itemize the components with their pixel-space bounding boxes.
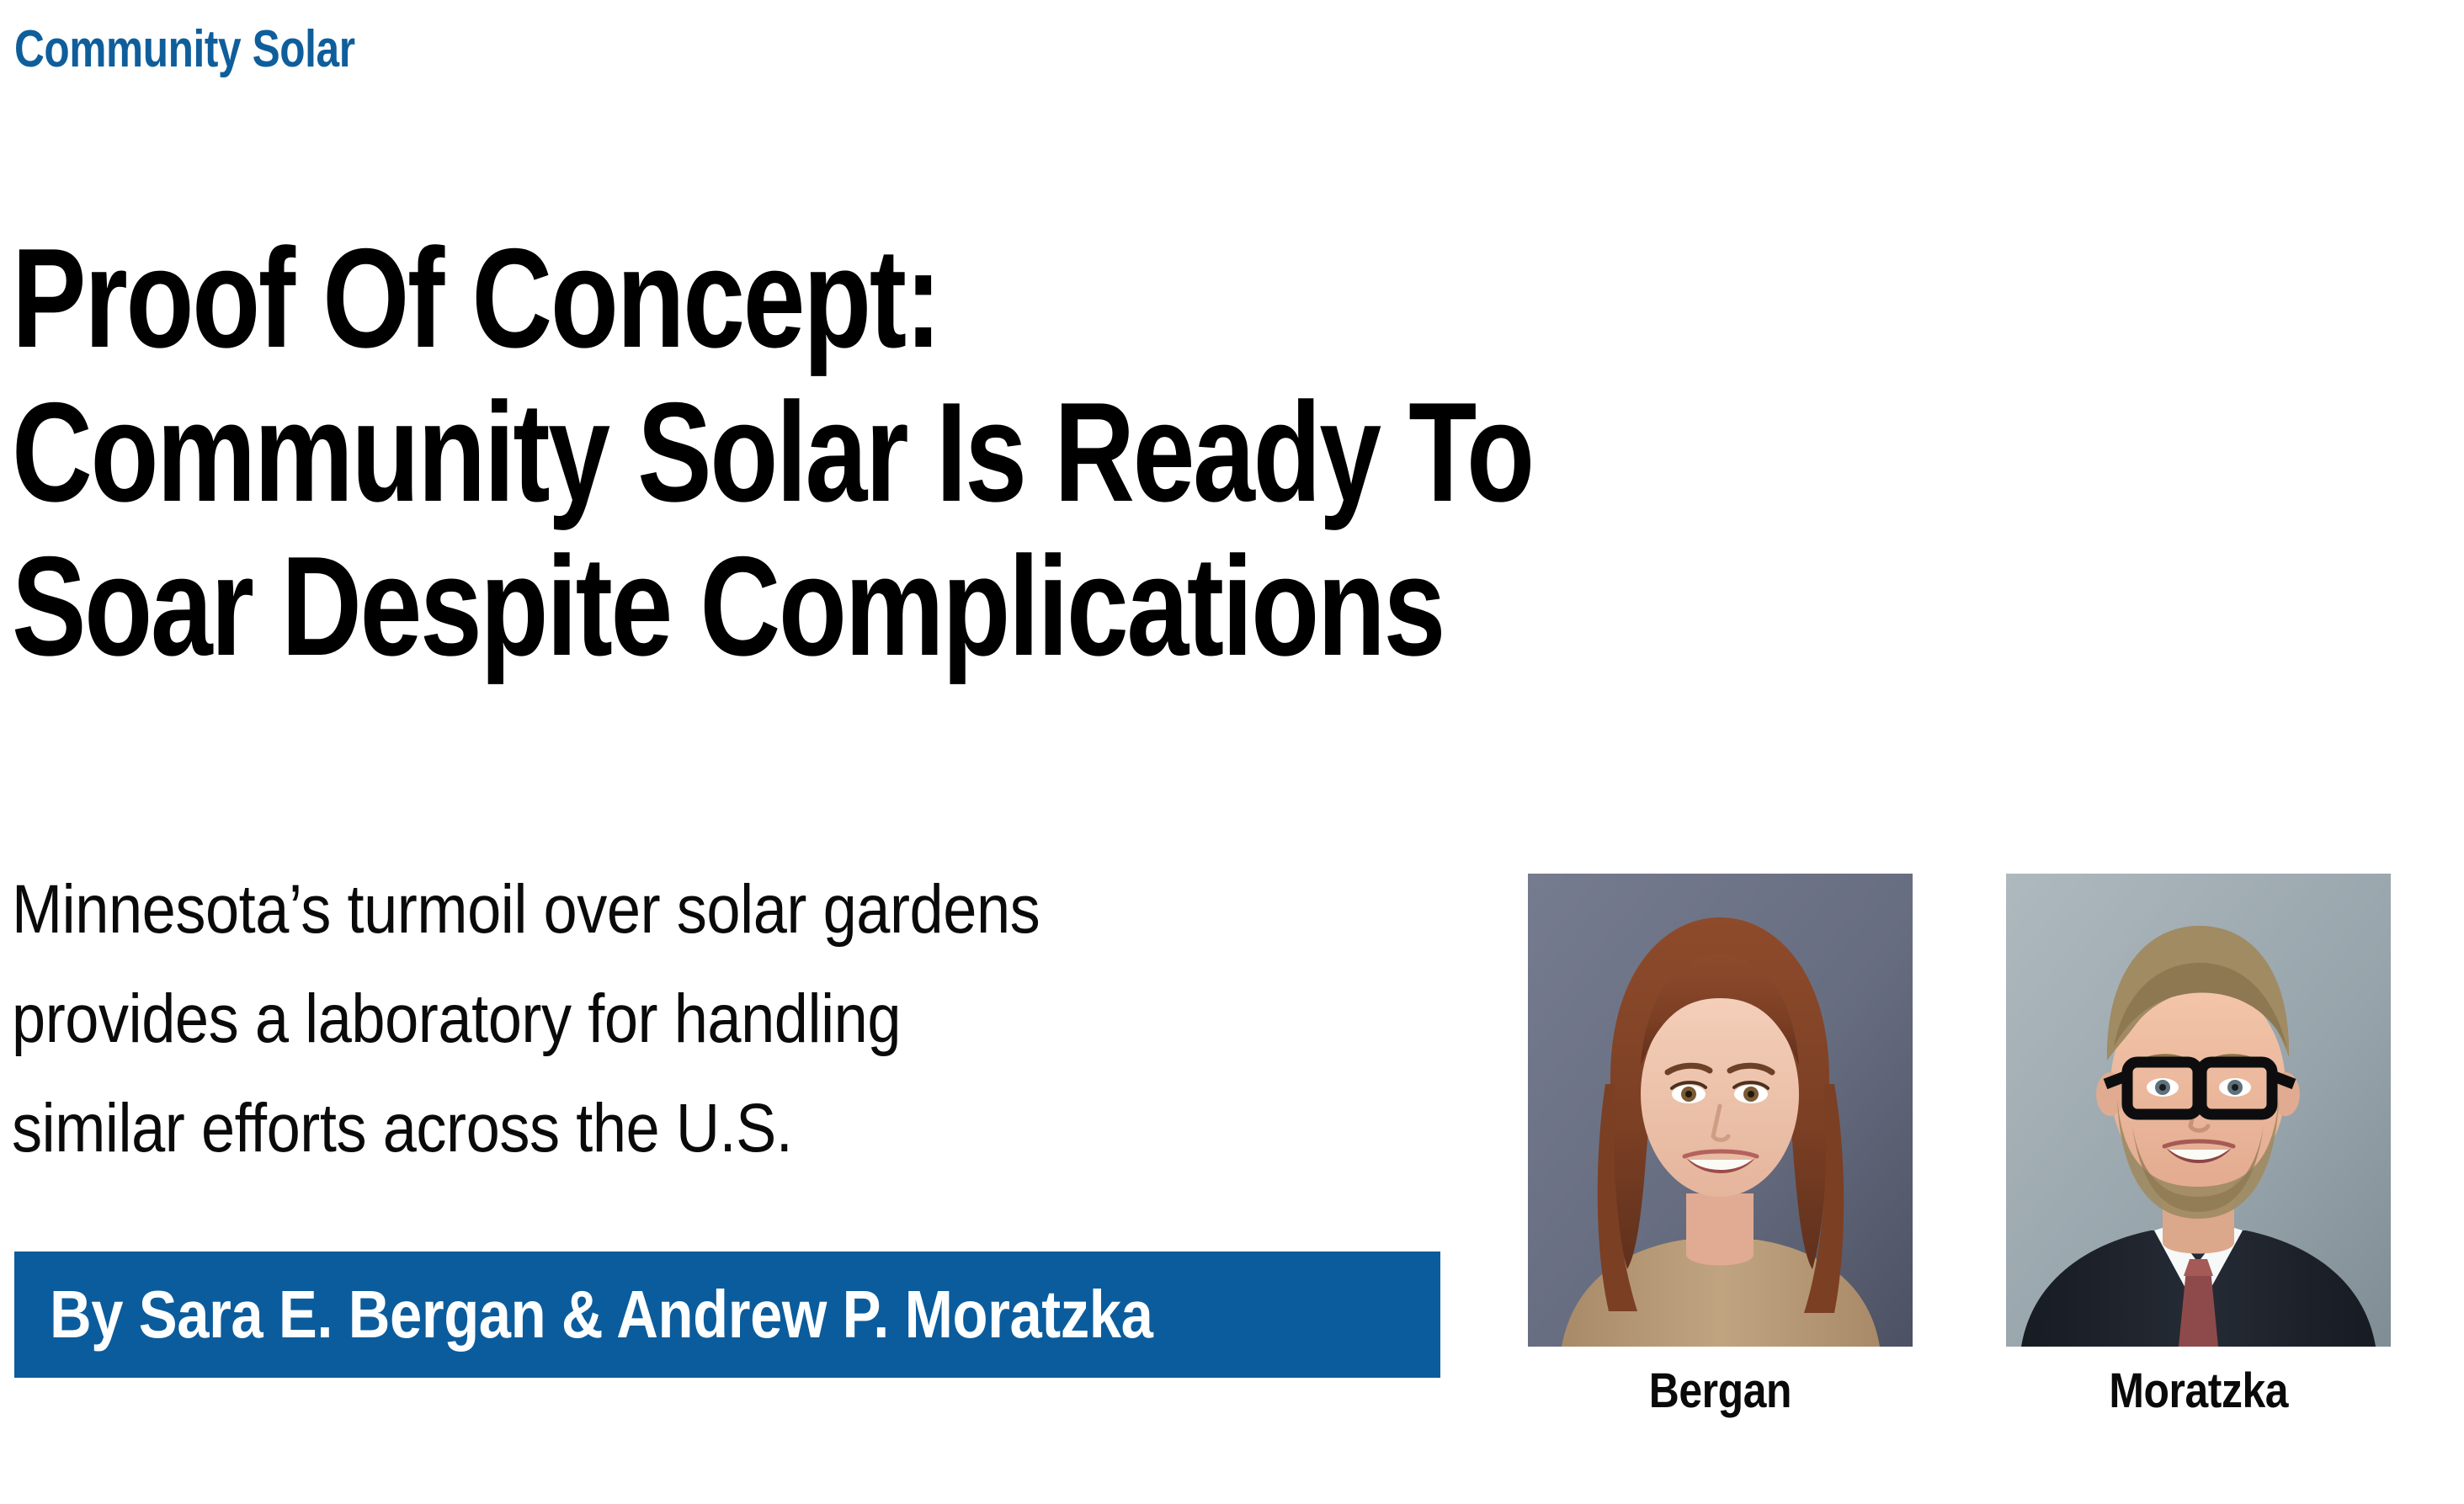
page-title: Proof Of Concept: Community Solar Is Rea… (12, 236, 1510, 668)
author-caption-bergan: Bergan (1649, 1367, 1791, 1416)
portrait-illustration (1528, 874, 1913, 1347)
deck-line-2: provides a laboratory for handling (12, 985, 1338, 1054)
author-card-bergan: Bergan (1528, 874, 1913, 1416)
article-deck: Minnesota’s turmoil over solar gardens p… (12, 875, 1519, 1163)
headline-line-2: Community Solar Is Ready To (12, 390, 1195, 514)
article-header-block: Community Solar Proof Of Concept: Commun… (0, 0, 1507, 1504)
section-kicker[interactable]: Community Solar (14, 24, 355, 76)
headline-line-1: Proof Of Concept: (12, 236, 1195, 360)
author-photo-group: Bergan (1528, 874, 2395, 1416)
headshot-bergan-photo (1528, 874, 1913, 1347)
portrait-illustration (2006, 874, 2391, 1347)
author-card-moratzka: Moratzka (2006, 874, 2391, 1416)
deck-line-3: similar efforts across the U.S. (12, 1094, 1338, 1163)
headshot-moratzka-photo (2006, 874, 2391, 1347)
deck-line-1: Minnesota’s turmoil over solar gardens (12, 875, 1338, 944)
byline-bar: By Sara E. Bergan & Andrew P. Moratzka (14, 1252, 1440, 1378)
author-caption-moratzka: Moratzka (2109, 1367, 2288, 1416)
byline-text: By Sara E. Bergan & Andrew P. Moratzka (50, 1281, 1152, 1348)
headline-line-3: Soar Despite Complications (12, 544, 1195, 668)
